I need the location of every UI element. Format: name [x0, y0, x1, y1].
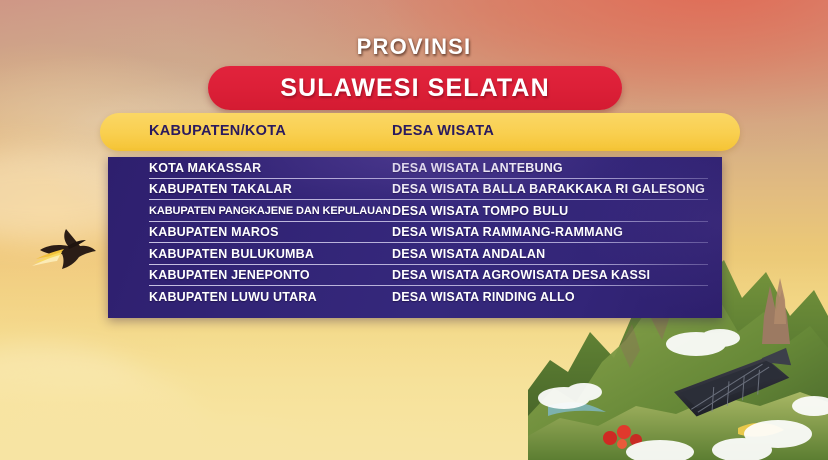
- table-header-bar: KABUPATEN/KOTA DESA WISATA: [100, 113, 740, 151]
- table-row: KABUPATEN TAKALARDESA WISATA BALLA BARAK…: [108, 179, 722, 201]
- cell-kabupaten: KABUPATEN LUWU UTARA: [149, 290, 317, 304]
- cell-desa-wisata: DESA WISATA LANTEBUNG: [392, 161, 563, 175]
- cell-kabupaten: KABUPATEN TAKALAR: [149, 182, 292, 196]
- table-row: KABUPATEN BULUKUMBADESA WISATA ANDALAN: [108, 243, 722, 265]
- cell-desa-wisata: DESA WISATA BALLA BARAKKAKA RI GALESONG: [392, 182, 705, 196]
- table-panel: KOTA MAKASSARDESA WISATA LANTEBUNGKABUPA…: [108, 157, 722, 318]
- flying-bird-icon: [24, 216, 110, 288]
- cell-kabupaten: KABUPATEN PANGKAJENE DAN KEPULAUAN: [149, 205, 391, 217]
- cell-desa-wisata: DESA WISATA RINDING ALLO: [392, 290, 575, 304]
- table-row: KOTA MAKASSARDESA WISATA LANTEBUNG: [108, 157, 722, 179]
- table-row: KABUPATEN JENEPONTODESA WISATA AGROWISAT…: [108, 265, 722, 287]
- table-row: KABUPATEN MAROSDESA WISATA RAMMANG-RAMMA…: [108, 222, 722, 244]
- cell-kabupaten: KABUPATEN JENEPONTO: [149, 268, 310, 282]
- cell-kabupaten: KABUPATEN MAROS: [149, 225, 279, 239]
- cell-desa-wisata: DESA WISATA TOMPO BULU: [392, 204, 568, 218]
- page-kicker: PROVINSI: [0, 34, 828, 60]
- cell-desa-wisata: DESA WISATA RAMMANG-RAMMANG: [392, 225, 623, 239]
- cell-kabupaten: KOTA MAKASSAR: [149, 161, 261, 175]
- province-title-banner: SULAWESI SELATAN: [208, 66, 622, 110]
- table-body: KOTA MAKASSARDESA WISATA LANTEBUNGKABUPA…: [108, 157, 722, 308]
- cell-desa-wisata: DESA WISATA AGROWISATA DESA KASSI: [392, 268, 650, 282]
- table-row: KABUPATEN LUWU UTARADESA WISATA RINDING …: [108, 286, 722, 308]
- column-header-kabupaten: KABUPATEN/KOTA: [149, 123, 286, 139]
- table-row: KABUPATEN PANGKAJENE DAN KEPULAUANDESA W…: [108, 200, 722, 222]
- cell-kabupaten: KABUPATEN BULUKUMBA: [149, 247, 314, 261]
- column-header-desa: DESA WISATA: [392, 123, 494, 139]
- province-name: SULAWESI SELATAN: [280, 74, 549, 103]
- cell-desa-wisata: DESA WISATA ANDALAN: [392, 247, 545, 261]
